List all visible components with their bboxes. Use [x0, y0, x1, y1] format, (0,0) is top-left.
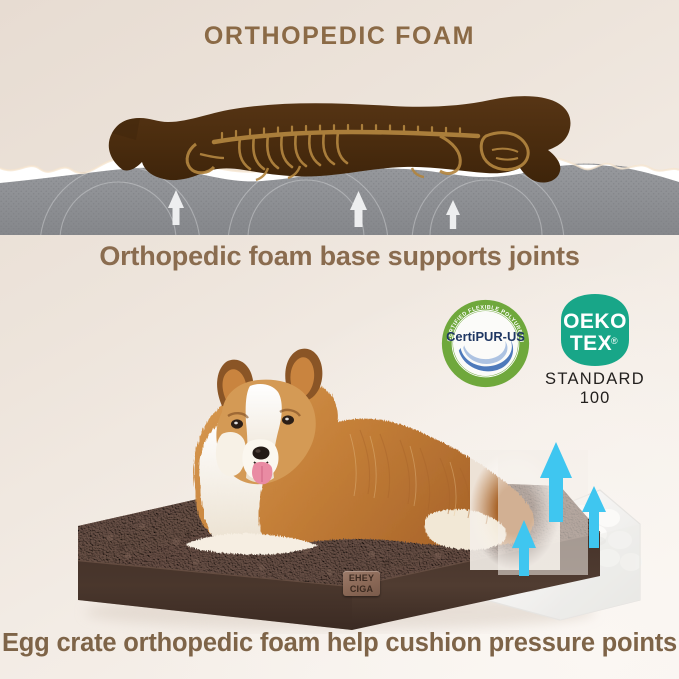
page-title: ORTHOPEDIC FOAM	[0, 22, 679, 51]
caption-egg-crate: Egg crate orthopedic foam help cushion p…	[0, 629, 679, 658]
dog-silhouette	[109, 96, 571, 182]
brand-line-1: EHEY	[349, 573, 374, 584]
caption-orthopedic-base: Orthopedic foam base supports joints	[0, 241, 679, 272]
orthopedic-support-diagram	[0, 70, 679, 235]
product-infographic: ORTHOPEDIC FOAM	[0, 0, 679, 679]
product-photo-scene	[0, 300, 679, 645]
brand-line-2: CIGA	[350, 584, 373, 595]
brand-logo-tag: EHEY CIGA	[343, 571, 380, 596]
